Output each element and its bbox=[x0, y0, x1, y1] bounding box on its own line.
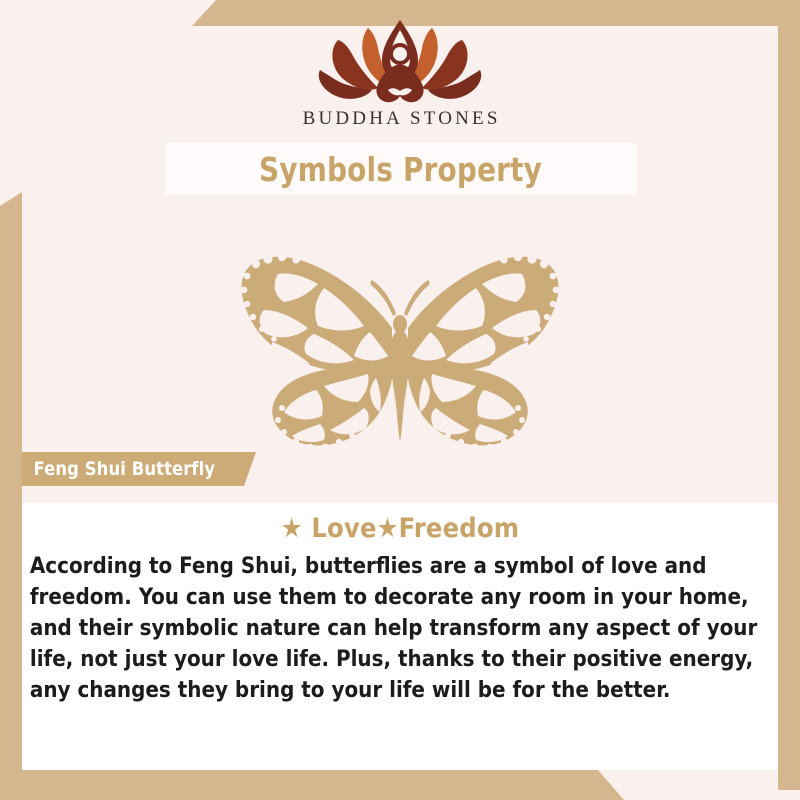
page-title: Symbols Property bbox=[259, 150, 542, 189]
brand-wordmark: BUDDHA STONES bbox=[0, 108, 800, 130]
lotus-meditation-icon bbox=[312, 18, 488, 106]
butterfly-icon bbox=[220, 236, 580, 456]
description-panel: ★ Love★Freedom According to Feng Shui, b… bbox=[22, 503, 778, 770]
category-tag-label: Feng Shui Butterfly bbox=[22, 458, 215, 480]
brand-logo: BUDDHA STONES bbox=[0, 18, 800, 130]
description-text: According to Feng Shui, butterflies are … bbox=[22, 544, 767, 706]
title-banner: Symbols Property bbox=[165, 143, 637, 195]
frame-band-bottom bbox=[0, 770, 800, 800]
category-tag: Feng Shui Butterfly bbox=[22, 452, 256, 486]
subtitle: ★ Love★Freedom bbox=[22, 503, 778, 544]
promo-graphic: BUDDHA STONES Symbols Property bbox=[0, 0, 800, 800]
hero-image bbox=[0, 236, 800, 461]
